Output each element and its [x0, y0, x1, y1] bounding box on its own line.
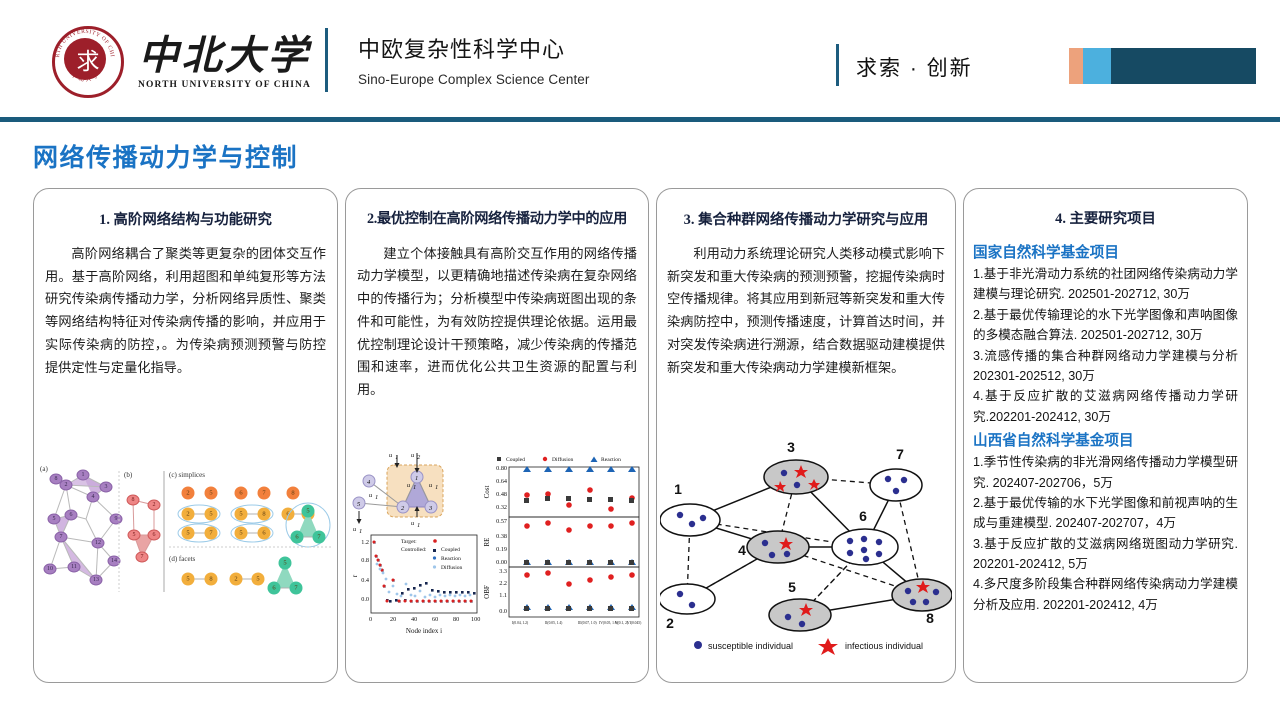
svg-text:1: 1 — [413, 484, 416, 491]
svg-text:1.1: 1.1 — [499, 592, 507, 599]
svg-text:u: u — [411, 452, 415, 459]
center-title-block: 中欧复杂性科学中心 Sino-Europe Complex Science Ce… — [358, 36, 590, 87]
svg-text:1: 1 — [417, 522, 420, 529]
panel3-body: 利用动力系统理论研究人类移动模式影响下新突发和重大传染病的预测预警，挖掘传染病时… — [667, 243, 945, 379]
svg-text:5: 5 — [186, 576, 189, 583]
re-diffusion — [524, 520, 635, 533]
svg-text:RE: RE — [483, 538, 491, 547]
figure-simplicial-complex: .nlab{font-family:"Liberation Serif",ser… — [34, 457, 337, 657]
svg-text:2: 2 — [186, 511, 189, 518]
panel3-heading: 3. 集合种群网络传播动力学研究与应用 — [665, 211, 947, 229]
figure-metapopulation-network: .pl{font-family:"Liberation Sans",sans-s… — [657, 437, 955, 672]
svg-text:100: 100 — [471, 616, 480, 623]
network-legend: susceptible individual infectious indivi… — [694, 638, 923, 655]
svg-text:40: 40 — [411, 616, 417, 623]
svg-text:u: u — [389, 452, 393, 459]
project-item: 1.基于非光滑动力系统的社团网络传染病动力学建模与理论研究. 202501-20… — [973, 264, 1238, 305]
svg-text:0.0: 0.0 — [361, 596, 369, 603]
header-divider-right — [836, 44, 839, 86]
color-block-navy — [1111, 48, 1256, 84]
simplices-row-2: 5 7 5 6 — [178, 524, 273, 542]
re-zero-series — [523, 559, 636, 565]
panel2-body: 建立个体接触具有高阶交互作用的网络传播动力学模型，以更精确地描述传染病在复杂网络… — [357, 243, 637, 402]
control-schematic: 1 2 3 4 5 u1 u2 u1 u1 u1 u1 u1 — [353, 452, 443, 535]
svg-text:2: 2 — [64, 482, 67, 488]
project-item: 1.季节性传染病的非光滑网络传播动力学模型研究. 202407-202706，5… — [973, 452, 1238, 493]
figure-b-nodes: 8 2 5 6 7 — [127, 495, 160, 562]
svg-text:0.38: 0.38 — [496, 533, 507, 540]
svg-text:12: 12 — [95, 540, 101, 546]
cost-coupled — [524, 496, 634, 503]
chart-node-index-scatter: 0.0 0.4 0.8 1.2 0 20 40 60 80 100 Node i… — [351, 535, 480, 635]
svg-text:1: 1 — [81, 472, 84, 478]
simplices-row-0: 2 5 6 7 8 — [181, 487, 299, 500]
patch-label-2: 2 — [666, 615, 674, 631]
svg-text:1: 1 — [375, 494, 378, 501]
university-name-en: NORTH UNIVERSITY OF CHINA — [138, 80, 311, 90]
fund-group-title-national: 国家自然科学基金项目 — [973, 241, 1238, 262]
university-seal-icon: NORTH UNIVERSITY OF CHINA 中 北 大 学 求 — [52, 26, 124, 98]
simplicial-complex-svg: .nlab{font-family:"Liberation Serif",ser… — [36, 457, 336, 657]
panel-higher-order-structure: 1. 高阶网络结构与功能研究 高阶网络耦合了聚类等更复杂的团体交互作用。基于高阶… — [33, 188, 338, 683]
center-title-en: Sino-Europe Complex Science Center — [358, 72, 590, 87]
metapopulation-svg: .pl{font-family:"Liberation Sans",sans-s… — [660, 437, 952, 667]
svg-text:11: 11 — [71, 564, 77, 570]
svg-text:5: 5 — [186, 530, 189, 537]
patch-4: 4 — [738, 531, 809, 563]
panel-optimal-control: 2.最优控制在高阶网络传播动力学中的应用 建立个体接触具有高阶交互作用的网络传播… — [345, 188, 649, 683]
svg-text:2: 2 — [234, 576, 237, 583]
svg-text:Node index i: Node index i — [406, 627, 442, 635]
svg-text:9: 9 — [114, 516, 117, 522]
chart-cost-re-obf: Coupled Diffusion Reaction 0.80 0.64 0.4… — [483, 456, 642, 626]
svg-text:u: u — [369, 492, 373, 499]
decorative-color-blocks — [1069, 48, 1256, 84]
panel-metapopulation: 3. 集合种群网络传播动力学研究与应用 利用动力系统理论研究人类移动模式影响下新… — [656, 188, 956, 683]
color-block-sky — [1083, 48, 1111, 84]
cost-diffusion — [524, 487, 635, 512]
panel2-heading: 2.最优控制在高阶网络传播动力学中的应用 — [347, 211, 647, 229]
patch-5: 5 — [769, 579, 831, 631]
figure-caption-a: (a) — [40, 465, 48, 473]
color-block-peach — [1069, 48, 1083, 84]
patch-1: 1 — [660, 481, 720, 536]
svg-text:80: 80 — [453, 616, 459, 623]
svg-text:Reaction: Reaction — [441, 556, 461, 562]
svg-text:10: 10 — [47, 566, 53, 572]
patch-2: 2 — [660, 584, 715, 631]
header-divider-left — [325, 28, 328, 92]
project-item: 3.基于反应扩散的艾滋病网络斑图动力学研究. 202201-202412, 5万 — [973, 534, 1238, 575]
svg-text:8: 8 — [209, 576, 212, 583]
header-rule — [0, 117, 1280, 122]
svg-text:5: 5 — [239, 530, 242, 537]
obf-diffusion — [524, 570, 635, 587]
svg-text:2: 2 — [186, 490, 189, 497]
facets-row: 5 8 2 5 5 6 7 — [181, 557, 302, 595]
svg-text:20: 20 — [390, 616, 396, 623]
patch-label-5: 5 — [788, 579, 796, 595]
figure-caption-c: (c) simplices — [169, 471, 205, 479]
svg-text:14: 14 — [111, 558, 117, 564]
svg-text:1: 1 — [395, 454, 398, 461]
svg-text:5: 5 — [283, 560, 286, 567]
svg-text:VI(0.045): VI(0.045) — [627, 621, 642, 625]
svg-text:5: 5 — [132, 532, 135, 538]
svg-text:Coupled: Coupled — [441, 547, 460, 553]
figure-caption-d: (d) facets — [169, 555, 196, 563]
chart-legend: Coupled Diffusion Reaction — [497, 456, 621, 463]
patch-label-8: 8 — [926, 610, 934, 626]
page-title: 网络传播动力学与控制 — [33, 138, 298, 174]
svg-text:Cost: Cost — [483, 486, 491, 499]
svg-text:3: 3 — [104, 484, 107, 490]
svg-text:4: 4 — [91, 494, 94, 500]
svg-text:7: 7 — [140, 554, 143, 560]
svg-text:7: 7 — [59, 534, 62, 540]
figure-caption-b: (b) — [124, 471, 133, 479]
svg-text:5: 5 — [209, 511, 212, 518]
svg-text:Coupled: Coupled — [506, 457, 525, 463]
svg-text:6: 6 — [69, 512, 72, 518]
svg-text:6: 6 — [152, 532, 155, 538]
fund-group-title-shanxi: 山西省自然科学基金项目 — [973, 429, 1238, 450]
svg-text:0.4: 0.4 — [361, 577, 369, 584]
svg-text:5: 5 — [256, 576, 259, 583]
obf-zero-series — [523, 604, 636, 611]
project-item: 2.基于最优传输的水下光学图像和前视声呐的生成与重建模型. 202407-202… — [973, 493, 1238, 534]
svg-text:5: 5 — [239, 511, 242, 518]
svg-text:0: 0 — [369, 616, 372, 623]
svg-text:0.48: 0.48 — [496, 491, 507, 498]
slogan-text: 求索 · 创新 — [856, 52, 973, 82]
project-item: 2.基于最优传输理论的水下光学图像和声呐图像的多模态融合算法. 202501-2… — [973, 305, 1238, 346]
legend-susceptible: susceptible individual — [708, 641, 793, 651]
patch-label-6: 6 — [859, 508, 867, 524]
university-name-cn: 中北大学 — [138, 35, 310, 77]
patch-8: 8 — [892, 579, 952, 626]
project-item: 4.多尺度多阶段集合种群网络传染病动力学建模分析及应用. 202201-2024… — [973, 574, 1238, 615]
svg-text:r: r — [351, 574, 359, 577]
patch-6: 6 — [832, 508, 898, 565]
legend-infectious: infectious individual — [845, 641, 923, 651]
seal-inner-disc: 求 — [64, 38, 106, 80]
svg-text:u: u — [353, 526, 357, 533]
chart-xticklabels: I(0.04, 1.2)II(0.05, 1.4) III(0.07, 1.0)… — [512, 621, 642, 626]
patch-7: 7 — [870, 446, 922, 501]
svg-text:3.3: 3.3 — [499, 568, 507, 575]
svg-text:u: u — [411, 520, 415, 527]
university-name-block: 中北大学 NORTH UNIVERSITY OF CHINA — [138, 35, 311, 90]
svg-text:II(0.05, 1.4): II(0.05, 1.4) — [545, 621, 563, 626]
svg-text:1: 1 — [435, 484, 438, 491]
svg-text:2: 2 — [417, 454, 421, 461]
panel1-body: 高阶网络耦合了聚类等更复杂的团体交互作用。基于高阶网络，利用超图和单纯复形等方法… — [45, 243, 326, 379]
svg-text:0.0: 0.0 — [499, 608, 507, 615]
svg-text:8: 8 — [262, 511, 265, 518]
svg-text:1: 1 — [359, 528, 362, 535]
panel-research-projects: 4. 主要研究项目 国家自然科学基金项目 1.基于非光滑动力系统的社团网络传染病… — [963, 188, 1248, 683]
svg-text:0.8: 0.8 — [361, 557, 369, 564]
svg-text:2: 2 — [152, 502, 155, 508]
optimal-control-svg: .ax{stroke:#222;stroke-width:.8;fill:non… — [349, 451, 645, 651]
patch-3: 3 — [764, 439, 828, 494]
svg-text:1: 1 — [415, 475, 418, 482]
svg-text:60: 60 — [432, 616, 438, 623]
patch-label-7: 7 — [896, 446, 904, 462]
svg-text:8: 8 — [291, 490, 294, 497]
svg-text:2.2: 2.2 — [499, 580, 507, 587]
patch-label-3: 3 — [787, 439, 795, 455]
svg-text:III(0.07, 1.0): III(0.07, 1.0) — [578, 621, 597, 626]
svg-text:Diffusion: Diffusion — [552, 456, 574, 463]
svg-text:I(0.04, 1.2): I(0.04, 1.2) — [512, 621, 529, 626]
svg-text:Diffusion: Diffusion — [441, 564, 463, 571]
page-header: NORTH UNIVERSITY OF CHINA 中 北 大 学 求 中北大学… — [0, 0, 1280, 118]
svg-text:0.80: 0.80 — [496, 465, 507, 472]
svg-text:5: 5 — [306, 508, 309, 515]
patch-label-1: 1 — [674, 481, 682, 497]
center-title-cn: 中欧复杂性科学中心 — [358, 36, 590, 65]
svg-text:Reaction: Reaction — [601, 457, 621, 463]
svg-text:Target:: Target: — [401, 539, 417, 545]
university-logo: NORTH UNIVERSITY OF CHINA 中 北 大 学 求 中北大学… — [52, 26, 311, 98]
svg-text:8: 8 — [131, 497, 134, 503]
svg-text:0.32: 0.32 — [496, 504, 507, 511]
svg-text:OBF: OBF — [483, 585, 491, 599]
patch-label-4: 4 — [738, 542, 746, 558]
svg-text:0.19: 0.19 — [496, 546, 507, 553]
svg-text:0.57: 0.57 — [496, 518, 507, 525]
project-item: 4.基于反应扩散的艾滋病网络传播动力学研究.202201-202412, 30万 — [973, 386, 1238, 427]
svg-text:0.64: 0.64 — [496, 478, 507, 485]
svg-text:1.2: 1.2 — [361, 539, 369, 546]
svg-text:5: 5 — [52, 516, 55, 522]
panel4-heading: 4. 主要研究项目 — [972, 210, 1239, 228]
simplices-triangle: 5 6 7 — [286, 503, 330, 547]
project-item: 3.流感传播的集合种群网络动力学建模与分析 202301-202512, 30万 — [973, 346, 1238, 387]
svg-text:5: 5 — [209, 490, 212, 497]
panel1-heading: 1. 高阶网络结构与功能研究 — [42, 211, 329, 229]
seal-glyph: 求 — [64, 38, 112, 86]
figure-optimal-control: .ax{stroke:#222;stroke-width:.8;fill:non… — [346, 451, 648, 661]
svg-text:0.00: 0.00 — [496, 559, 507, 566]
svg-text:13: 13 — [93, 577, 99, 583]
svg-text:Controlled:: Controlled: — [401, 547, 427, 553]
svg-text:8: 8 — [54, 476, 57, 482]
